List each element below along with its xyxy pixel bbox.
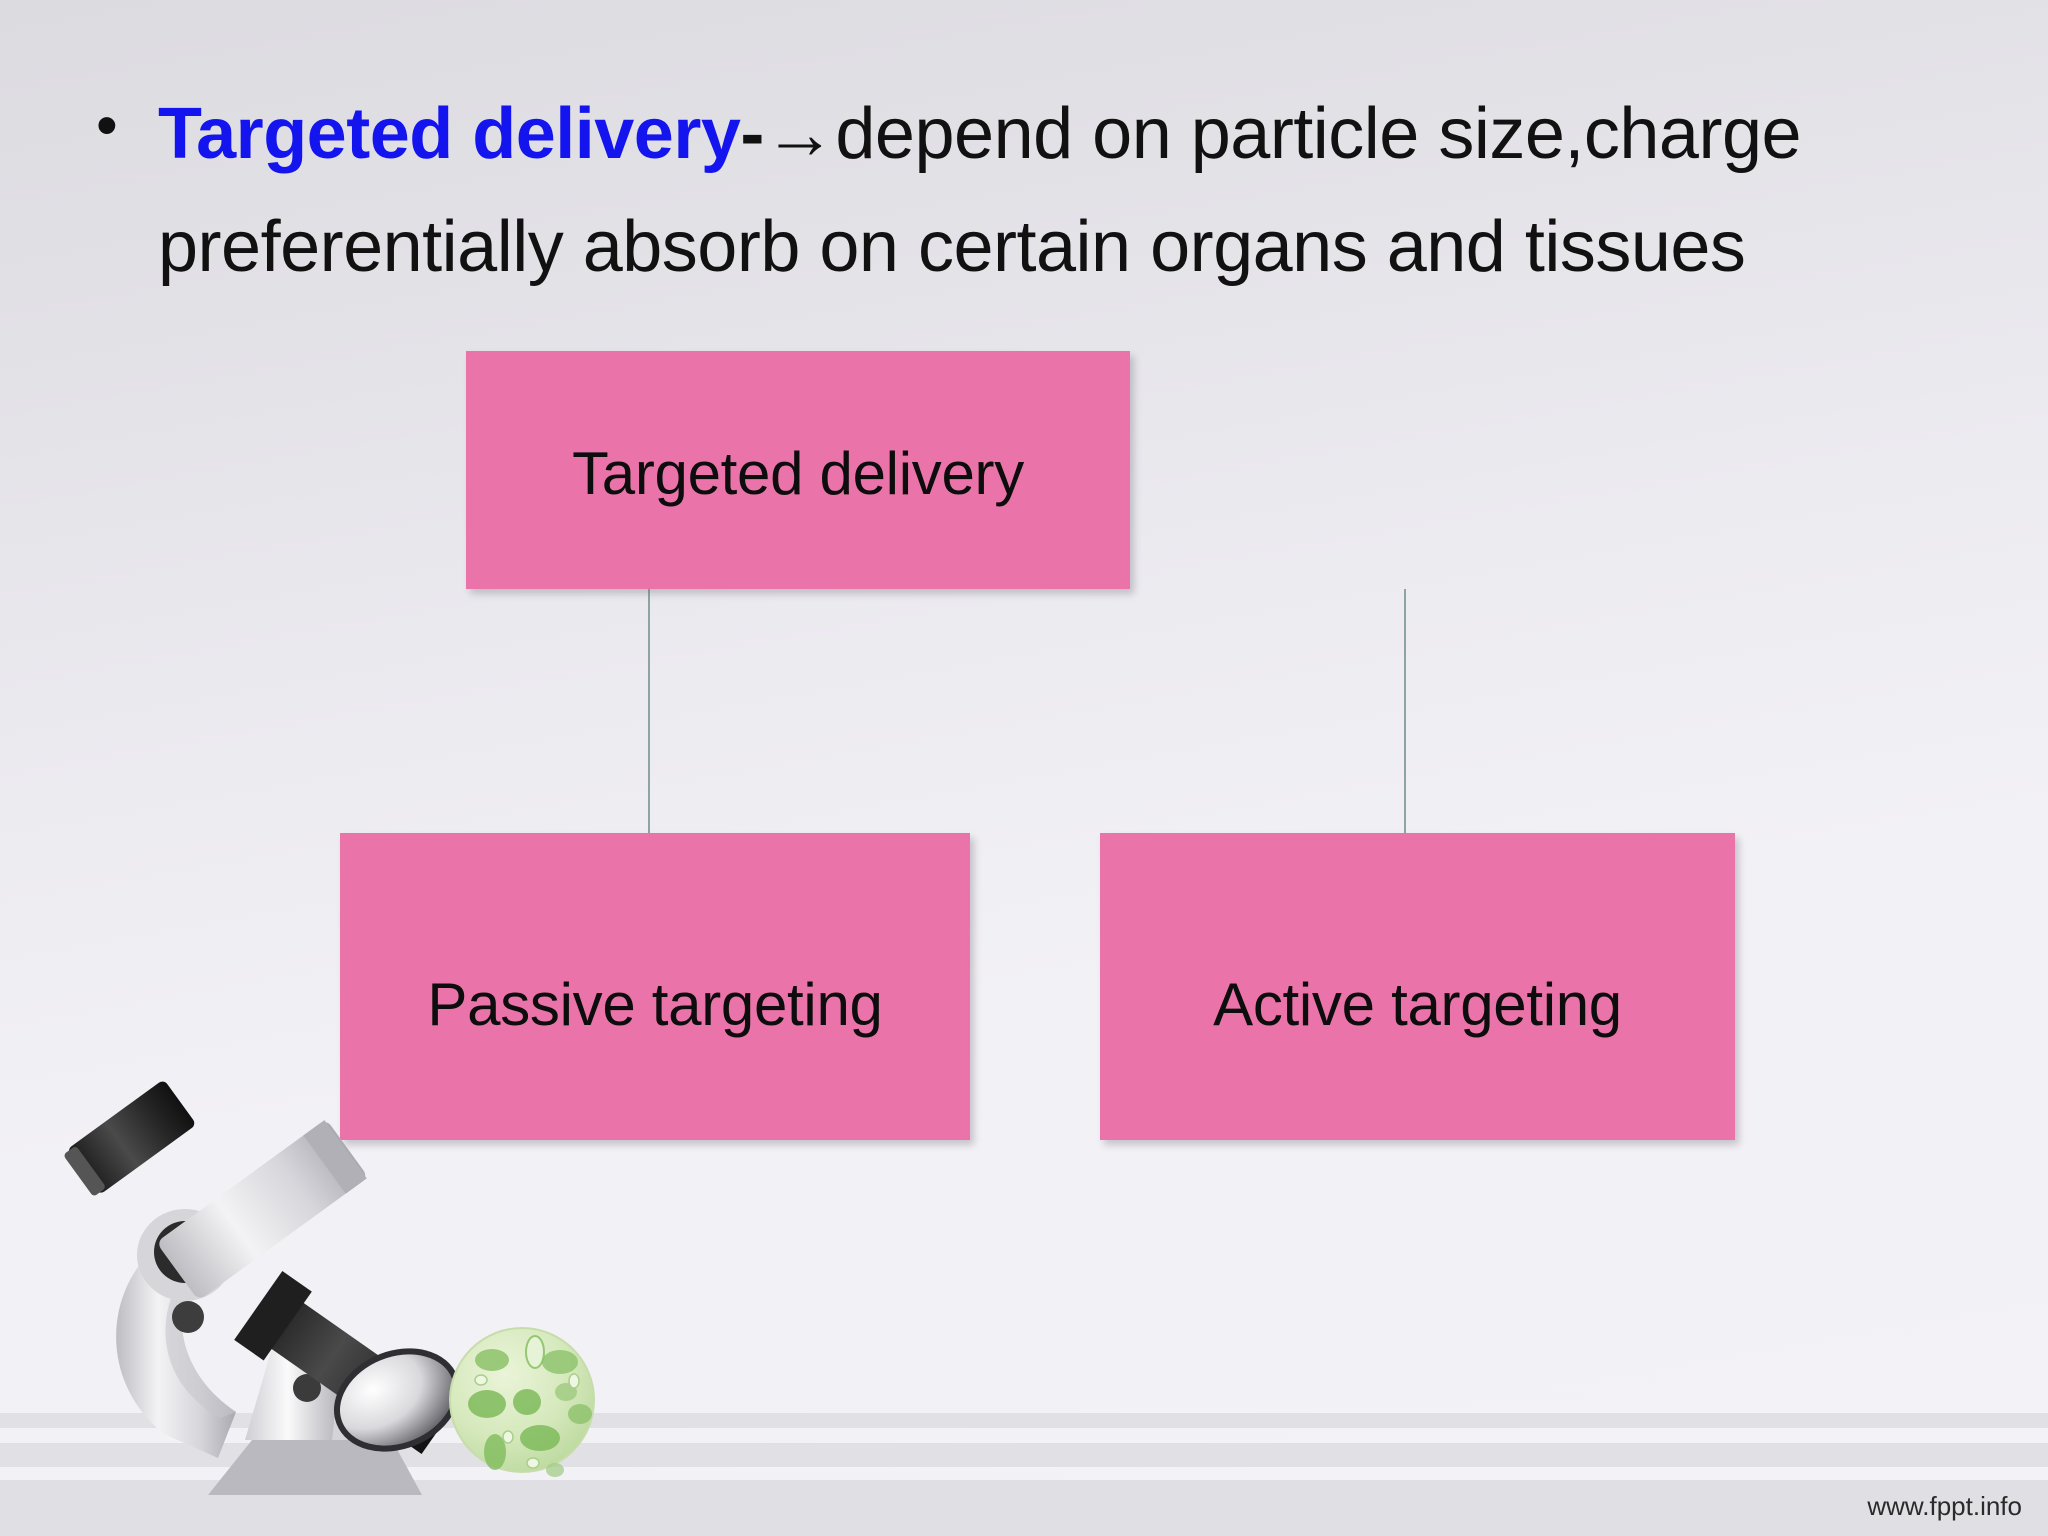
bullet-arrow: -→ — [740, 94, 835, 174]
diagram-node-active-label: Active targeting — [1213, 972, 1622, 1038]
microscope-secondary-lens — [172, 1301, 204, 1333]
microscope-illustration — [40, 1040, 640, 1536]
diagram-node-passive-label: Passive targeting — [427, 972, 882, 1038]
bullet-paragraph: • Targeted delivery-→depend on particle … — [96, 78, 1896, 304]
slide-canvas: • Targeted delivery-→depend on particle … — [0, 0, 2048, 1536]
green-cell-illustration — [450, 1328, 594, 1477]
watermark-fppt: www.fppt.info — [1867, 1491, 2022, 1522]
diagram-node-active-targeting[interactable]: Active targeting — [1100, 833, 1735, 1140]
bullet-marker: • — [96, 78, 158, 174]
diagram-node-root[interactable]: Targeted delivery — [466, 351, 1130, 589]
connector-line-left — [648, 589, 650, 834]
connector-line-right — [1404, 589, 1406, 834]
bullet-emphasis: Targeted delivery — [158, 94, 740, 174]
diagram-node-root-label: Targeted delivery — [572, 441, 1024, 507]
bullet-text: Targeted delivery-→depend on particle si… — [158, 78, 1896, 304]
